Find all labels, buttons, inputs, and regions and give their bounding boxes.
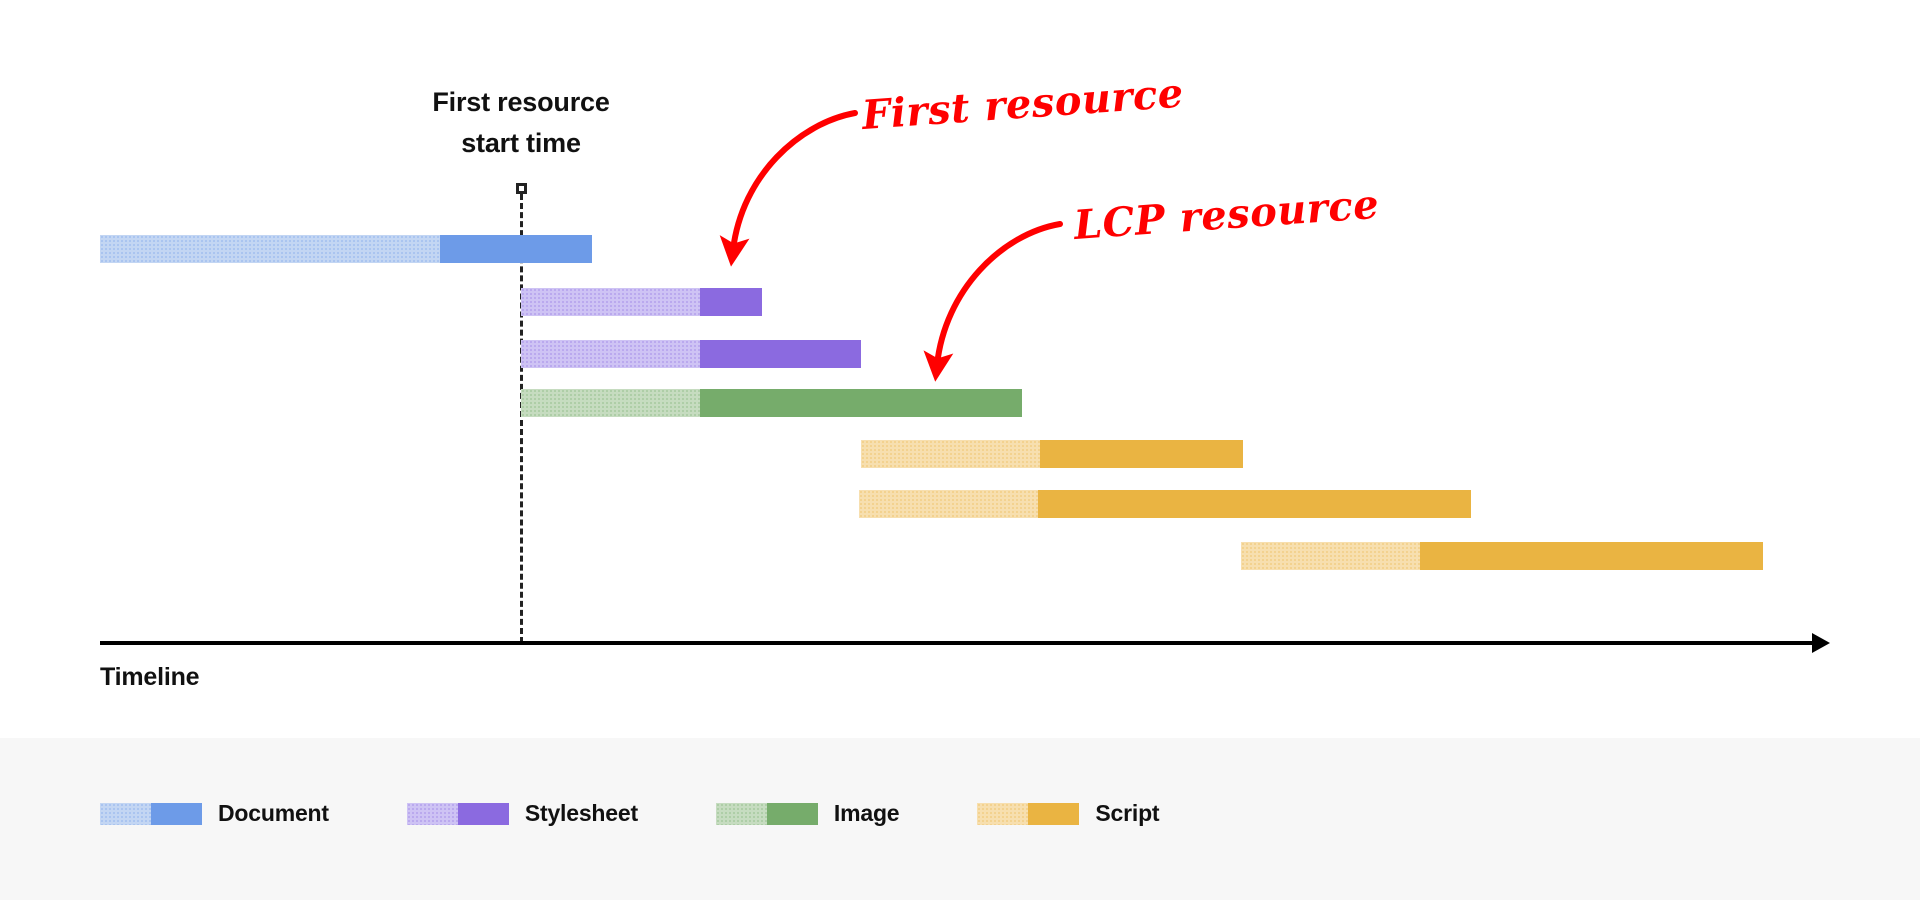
legend-swatch-light-half — [407, 803, 458, 825]
bar-row — [521, 389, 1022, 417]
bar-download-segment — [1040, 440, 1243, 468]
first-resource-annotation: First resource — [860, 70, 1185, 139]
legend-swatch-solid-half — [1028, 803, 1079, 825]
bar-row — [521, 288, 762, 316]
legend-item-script: Script — [977, 800, 1159, 827]
legend-swatch-solid-half — [458, 803, 509, 825]
legend-swatch-light-half — [100, 803, 151, 825]
legend-swatch-document — [100, 803, 202, 825]
bar-row — [100, 235, 592, 263]
first-resource-arrow — [733, 113, 855, 250]
legend-item-stylesheet: Stylesheet — [407, 800, 638, 827]
legend-swatch-stylesheet — [407, 803, 509, 825]
legend-label: Script — [1095, 800, 1159, 827]
bar-download-segment — [1038, 490, 1471, 518]
bar-wait-segment — [100, 235, 440, 263]
bar-download-segment — [440, 235, 592, 263]
legend-swatch-script — [977, 803, 1079, 825]
legend-swatch-solid-half — [151, 803, 202, 825]
bar-wait-segment — [521, 288, 700, 316]
legend-swatch-light-half — [977, 803, 1028, 825]
legend-label: Document — [218, 800, 329, 827]
legend-label: Image — [834, 800, 899, 827]
bar-row — [521, 340, 861, 368]
legend-item-image: Image — [716, 800, 899, 827]
bar-download-segment — [700, 389, 1022, 417]
bar-wait-segment — [859, 490, 1038, 518]
bar-wait-segment — [1241, 542, 1420, 570]
lcp-resource-annotation: LCP resource — [1072, 181, 1380, 249]
bar-row — [859, 490, 1471, 518]
chart-plot-area: First resource start time — [0, 0, 1920, 738]
bar-row — [1241, 542, 1763, 570]
bar-wait-segment — [521, 389, 700, 417]
marker-cap-icon — [516, 183, 527, 194]
legend-swatch-solid-half — [767, 803, 818, 825]
chart-legend: Document Stylesheet Image — [0, 738, 1920, 900]
legend-items-list: Document Stylesheet Image — [100, 800, 1237, 827]
timeline-axis-line — [100, 641, 1816, 645]
bar-download-segment — [700, 288, 762, 316]
bar-row — [861, 440, 1243, 468]
bar-wait-segment — [521, 340, 700, 368]
timeline-chart: First resource start time — [0, 0, 1920, 900]
bar-download-segment — [1420, 542, 1763, 570]
legend-item-document: Document — [100, 800, 329, 827]
timeline-axis-arrow-icon — [1812, 633, 1830, 653]
bar-wait-segment — [861, 440, 1040, 468]
legend-label: Stylesheet — [525, 800, 638, 827]
timeline-axis-label: Timeline — [100, 663, 199, 692]
first-resource-start-time-label: First resource start time — [401, 82, 641, 164]
legend-swatch-image — [716, 803, 818, 825]
lcp-resource-arrow — [937, 224, 1060, 365]
bar-download-segment — [700, 340, 861, 368]
legend-swatch-light-half — [716, 803, 767, 825]
